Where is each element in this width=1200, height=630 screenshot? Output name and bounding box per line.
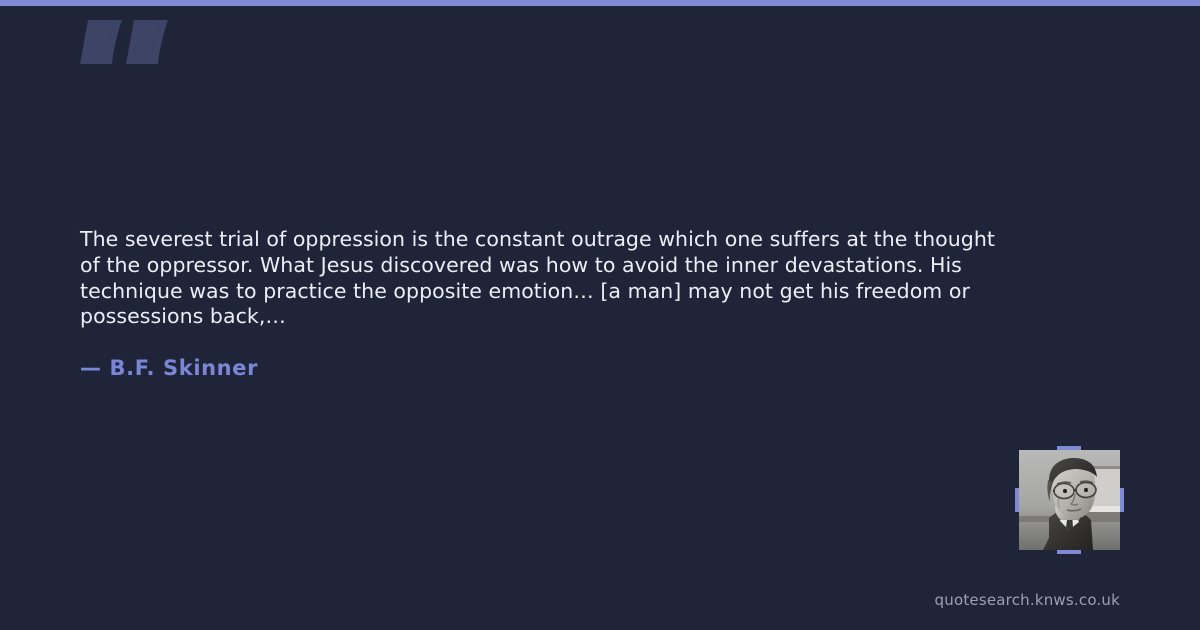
top-accent-bar: [0, 0, 1200, 6]
quote-text: The severest trial of oppression is the …: [80, 227, 1010, 330]
portrait-tick-bottom: [1057, 550, 1081, 554]
portrait-tick-top: [1057, 446, 1081, 450]
author-portrait: [1019, 450, 1120, 550]
opening-quote-icon: [80, 14, 200, 104]
quote-block: The severest trial of oppression is the …: [80, 227, 1010, 330]
author-portrait-image: [1019, 450, 1120, 550]
portrait-tick-right: [1120, 488, 1124, 512]
portrait-tick-left: [1015, 488, 1019, 512]
quote-author: — B.F. Skinner: [80, 355, 258, 381]
quote-card: The severest trial of oppression is the …: [0, 0, 1200, 630]
source-url: quotesearch.knws.co.uk: [935, 590, 1120, 610]
